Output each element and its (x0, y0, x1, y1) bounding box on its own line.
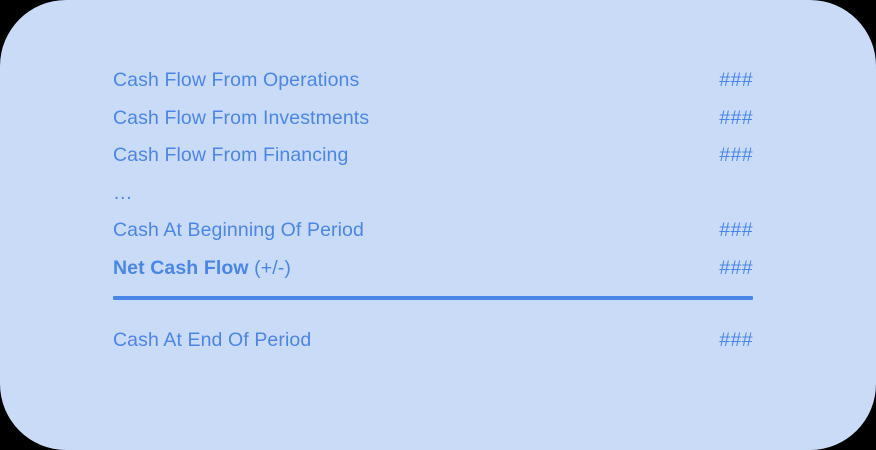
ellipsis-label: … (113, 184, 133, 204)
cash-flow-card: Cash Flow From Operations ### Cash Flow … (0, 0, 876, 450)
table-row-total: Cash At End Of Period ### (113, 322, 753, 360)
row-label-emphasis: Net Cash Flow (113, 257, 249, 279)
row-value: ### (719, 257, 753, 280)
row-value: ### (719, 219, 753, 242)
row-value: ### (719, 107, 753, 130)
row-label: Cash Flow From Financing (113, 144, 348, 167)
table-row: Cash Flow From Investments ### (113, 100, 753, 138)
row-label: Net Cash Flow (+/-) (113, 257, 291, 280)
row-label: Cash At End Of Period (113, 329, 311, 352)
table-row-net-cash-flow: Net Cash Flow (+/-) ### (113, 250, 753, 288)
total-divider-wrap (113, 287, 753, 309)
row-label-suffix: (+/-) (249, 257, 291, 279)
row-value: ### (719, 144, 753, 167)
divider-gap (113, 309, 753, 322)
row-value: ### (719, 69, 753, 92)
table-row: Cash At Beginning Of Period ### (113, 212, 753, 250)
total-divider (113, 296, 753, 300)
row-label: Cash Flow From Operations (113, 69, 359, 92)
row-value: ### (719, 329, 753, 352)
row-label: Cash At Beginning Of Period (113, 219, 364, 242)
row-label: Cash Flow From Investments (113, 107, 369, 130)
table-row: Cash Flow From Operations ### (113, 62, 753, 100)
table-row: Cash Flow From Financing ### (113, 137, 753, 175)
cash-flow-statement: Cash Flow From Operations ### Cash Flow … (113, 62, 753, 360)
table-row-ellipsis: … (113, 175, 753, 213)
